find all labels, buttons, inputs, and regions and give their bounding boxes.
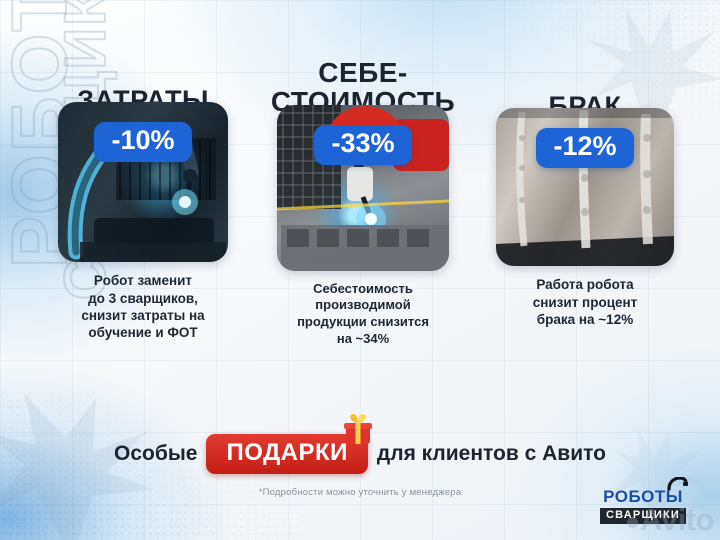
benefit-columns: ЗАТРАТЫ -10%: [0, 0, 720, 420]
gifts-prefix: Особые: [114, 442, 197, 466]
brand-logo-line2: СВАРЩИКИ: [600, 508, 686, 524]
gifts-badge-label: ПОДАРКИ: [226, 439, 347, 466]
gifts-suffix: для клиентов с Авито: [377, 442, 606, 466]
brand-logo: РОБОТЫ СВАРЩИКИ: [600, 488, 686, 524]
gifts-badge[interactable]: ПОДАРКИ: [206, 434, 367, 474]
discount-badge: -12%: [536, 128, 633, 168]
welding-torch-icon: [666, 477, 688, 491]
discount-badge: -33%: [314, 125, 411, 165]
benefit-caption: Себестоимостьпроизводимойпродукции снизи…: [252, 281, 474, 348]
benefit-caption: Работа роботаснизит процентбрака на ~12%: [474, 276, 696, 328]
poster-canvas: РОБОТ СВАРЩИК ЗАТРАТЫ -10%: [0, 0, 720, 540]
benefit-column-cost-price: СЕБЕ-СТОИМОСТЬ -33%: [248, 58, 478, 347]
benefit-column-defects: БРАК -12%: [470, 92, 700, 328]
benefit-caption: Робот заменитдо 3 сварщиков,снизит затра…: [32, 272, 254, 341]
brand-logo-line1: РОБОТЫ: [600, 488, 686, 505]
gifts-banner: Особые ПОДАРКИ для клиентов с Авито: [0, 432, 720, 476]
benefit-column-costs: ЗАТРАТЫ -10%: [28, 86, 258, 341]
discount-badge: -10%: [94, 122, 191, 162]
gift-icon: [341, 412, 375, 446]
